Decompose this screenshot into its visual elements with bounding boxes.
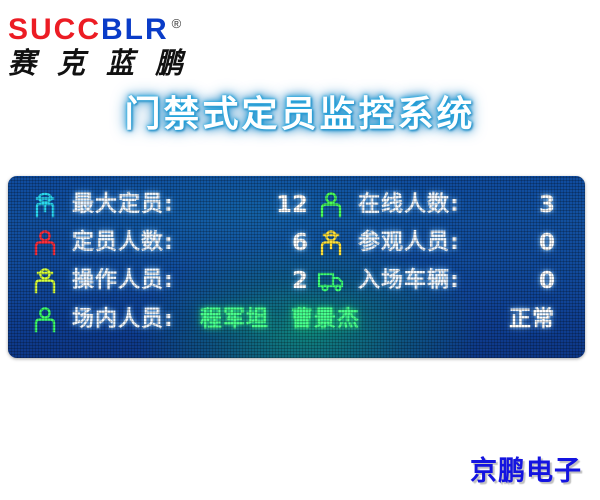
led-cell-online-count: 在线人数: 3 [316, 191, 571, 219]
person-hardhat-icon [316, 229, 346, 257]
led-cell-assigned-count: 定员人数: 6 [30, 229, 316, 257]
led-content-grid: 最大定员: 12 在线人数: 3 [8, 176, 585, 358]
led-label: 在线人数: [358, 192, 460, 218]
led-value: 0 [460, 268, 571, 294]
led-label: 场内人员: [72, 307, 174, 333]
list-item: 曹景杰 [291, 307, 360, 333]
led-value: 3 [460, 192, 571, 218]
status-badge: 正常 [509, 307, 571, 333]
person-cap-icon [30, 191, 60, 219]
onsite-personnel-names: 程军坦 曹景杰 [174, 307, 509, 333]
led-cell-vehicle-count: 入场车辆: 0 [316, 268, 571, 294]
led-row: 操作人员: 2 入场车辆: 0 [30, 262, 571, 300]
person-icon [316, 191, 346, 219]
person-icon [30, 229, 60, 257]
led-value: 12 [174, 192, 316, 218]
registered-trademark-icon: ® [172, 16, 182, 31]
led-label: 入场车辆: [358, 268, 460, 294]
led-row: 最大定员: 12 在线人数: 3 [30, 186, 571, 224]
person-icon [30, 306, 60, 334]
led-value: 6 [174, 230, 316, 256]
led-cell-visitor-count: 参观人员: 0 [316, 229, 571, 257]
led-display-panel: 最大定员: 12 在线人数: 3 [8, 176, 585, 358]
person-hardhat-icon [30, 267, 60, 295]
footer-company-name: 京鹏电子 [470, 456, 582, 488]
logo-latin-red: SUCC [8, 13, 101, 46]
logo-latin-text: SUCCBLR® [8, 8, 248, 46]
led-label: 最大定员: [72, 192, 174, 218]
led-label: 定员人数: [72, 230, 174, 256]
list-item: 程军坦 [200, 307, 269, 333]
led-value: 0 [460, 230, 571, 256]
logo-chinese-text: 赛 克 蓝 鹏 [8, 46, 238, 80]
page-title: 门禁式定员监控系统 [0, 93, 600, 137]
led-cell-operator-count: 操作人员: 2 [30, 267, 316, 295]
led-row: 定员人数: 6 参观人员: 0 [30, 224, 571, 262]
company-logo: SUCCBLR® 赛 克 蓝 鹏 [8, 8, 248, 80]
logo-latin-blue: BLR [101, 13, 169, 46]
led-label: 操作人员: [72, 268, 174, 294]
truck-icon [316, 269, 346, 293]
led-row-onsite-personnel: 场内人员: 程军坦 曹景杰 正常 [30, 300, 571, 340]
led-label: 参观人员: [358, 230, 460, 256]
led-value: 2 [174, 268, 316, 294]
led-cell-max-capacity: 最大定员: 12 [30, 191, 316, 219]
